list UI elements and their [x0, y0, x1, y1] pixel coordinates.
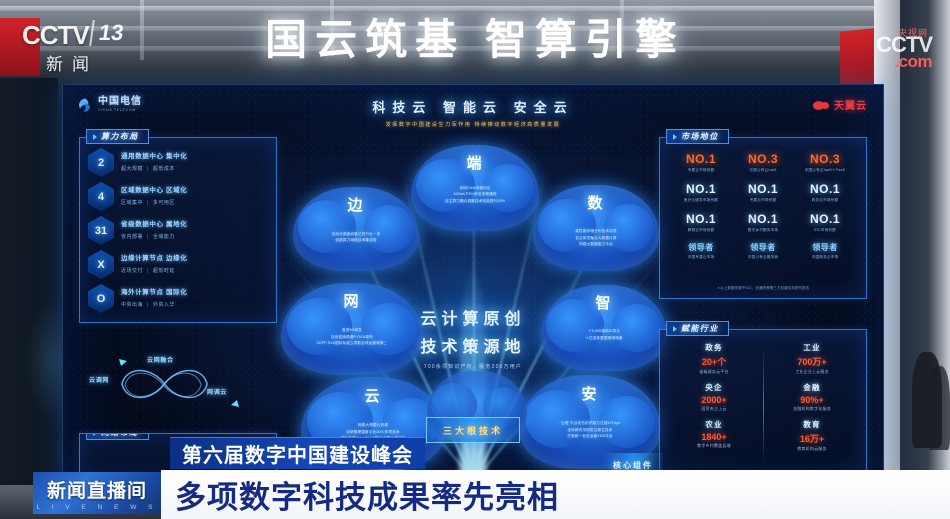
rank-badge: NO.3 [794, 152, 856, 166]
industry-name: 农业 [670, 419, 758, 430]
industry-enablement-panel: 赋能行业 政务 20+个 省级政务云平台 工业 700万+ 工业企业上云服务 央… [659, 329, 867, 477]
market-cell[interactable]: NO.1 教育云市场份额 [670, 212, 732, 233]
industry-value: 20+个 [670, 355, 758, 368]
program-name-en: L I V E N E W S [37, 504, 158, 511]
rank-badge: NO.1 [794, 182, 856, 196]
industry-cell[interactable]: 教育 16万+ 教育机构云服务 [768, 419, 856, 452]
core-line-2: 技术策源地 [368, 333, 578, 357]
cloud-node-desc: "云堤"平台攻击防护能力达到10Tbps 全序辨先河研发云原生技术 打造统一安全… [525, 420, 656, 440]
hex-number: O [97, 293, 106, 305]
tag-left: 近场交付 [121, 268, 143, 274]
industry-value: 16万+ [768, 432, 856, 445]
rank-desc: 中国公有云IaaS [732, 168, 794, 173]
market-cell[interactable]: NO.1 数字乡村服务市场 [732, 212, 794, 233]
cloud-node-label: 边 [293, 194, 419, 215]
industry-cell[interactable]: 央企 2000+ 国资央企上云 [670, 382, 758, 412]
chevron-right-icon [673, 326, 677, 332]
rank-desc: IDC市场份额 [794, 228, 856, 233]
three-root-technologies-badge[interactable]: 三大根技术 [426, 417, 520, 443]
row-title: 通用数据中心 集中化 [121, 150, 187, 160]
rank-desc: 专属云市场份额 [670, 168, 732, 173]
cloud-node-desc: 自研Clink传输协议 100ms下5%丢包流畅通用 自主算力融合调度技术效能提… [416, 185, 534, 205]
cloud-node-label: 云 [301, 385, 445, 406]
rank-badge: NO.1 [732, 212, 794, 226]
compute-row[interactable]: 2 通用数据中心 集中化 超大规模|超低成本 [88, 148, 270, 182]
tag-left: 区域集中 [121, 200, 143, 206]
industry-desc: 金融机构数字化服务 [768, 406, 856, 412]
channel-number: 13 [89, 20, 131, 46]
program-badge: 新闻直播间 L I V E N E W S [33, 472, 161, 514]
industry-cell[interactable]: 农业 1840+ 数字乡村覆盖县域 [670, 419, 758, 452]
cloud-tree-core-label: 云计算原创 技术策源地 700余项知识产权，服务200万用户 [368, 305, 578, 370]
industry-cell[interactable]: 政务 20+个 省级政务云平台 [670, 342, 758, 375]
cloud-network-fusion-diagram: 云网融合 云调网 网调云 [89, 347, 269, 421]
left-wall [0, 78, 58, 519]
industry-name: 金融 [768, 382, 856, 393]
compute-row[interactable]: X 边缘计算节点 边缘化 近场交付|超低时延 [88, 250, 270, 284]
compute-row[interactable]: 4 区域数据中心 区域化 区域集中|多可用区 [88, 182, 270, 216]
hex-number: 2 [98, 157, 104, 169]
industry-name: 政务 [670, 342, 758, 353]
row-tags: 区域集中|多可用区 [121, 199, 187, 206]
market-cell[interactable]: NO.1 专属云市场份额 [670, 152, 732, 173]
industry-desc: 省级政务云平台 [670, 369, 758, 375]
industry-name: 央企 [670, 382, 758, 393]
market-position-panel: 市场地位 NO.1 专属云市场份额 NO.3 中国公有云IaaS NO.3 中国… [659, 137, 867, 299]
market-cell[interactable]: NO.1 政务云市场份额 [794, 182, 856, 203]
rank-badge: 领导者 [670, 242, 732, 253]
channel-word: CCTV [22, 20, 89, 51]
badge-label: 三大根技术 [443, 426, 503, 436]
rank-desc: 中国政务云市场 [794, 255, 856, 260]
panel-title: 市场地位 [681, 131, 719, 142]
infinity-icon [89, 347, 269, 421]
industry-grid: 政务 20+个 省级政务云平台 工业 700万+ 工业企业上云服务 央企 200… [670, 342, 856, 452]
cloud-node-label: 数 [533, 192, 659, 213]
cloud-node-duan[interactable]: 端 自研Clink传输协议 100ms下5%丢包流畅通用 自主算力融合调度技术效… [411, 145, 539, 231]
row-tags: 省内部署|全域能力 [121, 233, 187, 240]
rank-badge: NO.1 [732, 182, 794, 196]
cloud-node-desc: 自动化调度纳管达到行业一流 创新算力网络技术集成用 [298, 231, 414, 244]
rank-desc: 中国专属云市场 [670, 255, 732, 260]
market-cell[interactable]: NO.1 IDC市场份额 [794, 212, 856, 233]
industry-desc: 国资央企上云 [670, 406, 758, 412]
row-title: 边缘计算节点 边缘化 [121, 252, 187, 262]
industry-value: 90%+ [768, 395, 856, 405]
rank-badge: NO.1 [670, 182, 732, 196]
market-cell[interactable]: 领导者 中国公有云服务商 [732, 242, 794, 260]
cloud-node-label: 安 [519, 383, 661, 404]
industry-name: 教育 [768, 419, 856, 430]
chevron-right-icon [673, 134, 677, 140]
industry-desc: 数字乡村覆盖县域 [670, 443, 758, 449]
topic-text: 第六届数字中国建设峰会 [182, 439, 413, 468]
core-line-1: 云计算原创 [368, 305, 578, 329]
rank-desc: 专属云市场份额 [732, 198, 794, 203]
led-exhibition-board: 中国电信 CHINA TELECOM 天翼云 科技云 智能云 安全云 发挥数字中… [62, 84, 884, 482]
rank-badge: NO.1 [670, 152, 732, 166]
tag-right: 外资入华 [153, 302, 175, 308]
market-cell[interactable]: 领导者 中国专属云市场 [670, 242, 732, 260]
rank-desc: 数字乡村服务市场 [732, 228, 794, 233]
industry-cell[interactable]: 金融 90%+ 金融机构数字化服务 [768, 382, 856, 412]
cctv-com-watermark: 央视网 CCTV .com [876, 32, 932, 72]
rank-badge: NO.3 [732, 152, 794, 166]
chevron-right-icon [93, 134, 97, 140]
row-title: 省级数据中心 属地化 [121, 218, 187, 228]
cloud-node-shu[interactable]: 数 高性能存储分布技术实现 自主研发聚合大数据计算 构建大数据能力平台 [533, 185, 659, 271]
industry-value: 1840+ [670, 432, 758, 442]
chevron-right-icon [93, 433, 97, 436]
fusion-left-label: 云调网 [89, 375, 109, 384]
compute-layout-panel: 算力布局 2 通用数据中心 集中化 超大规模|超低成本 4 区域数据中心 区 [79, 137, 277, 323]
cloud-node-desc: 高性能存储分布技术实现 自主研发聚合大数据计算 构建大数据能力平台 [538, 228, 654, 248]
rank-badge: NO.1 [794, 212, 856, 226]
rank-badge: NO.1 [670, 212, 732, 226]
industry-name: 工业 [768, 342, 856, 353]
topic-banner: 第六届数字中国建设峰会 [170, 437, 425, 469]
panel-header: 算力布局 [86, 129, 149, 144]
market-grid: NO.1 专属云市场份额 NO.3 中国公有云IaaS NO.3 中国公有云Ia… [670, 152, 856, 260]
rank-desc: 中国公有云服务商 [732, 255, 794, 260]
market-cell[interactable]: 领导者 中国政务云市场 [794, 242, 856, 260]
panel-header: 网络布局 [86, 433, 149, 440]
core-subtext: 700余项知识产权，服务200万用户 [368, 363, 578, 370]
panel-title: 赋能行业 [681, 323, 719, 334]
headline-bar: 多项数字科技成果率先亮相 [161, 470, 950, 519]
row-tags: 超大规模|超低成本 [121, 165, 187, 172]
compute-layout-rows: 2 通用数据中心 集中化 超大规模|超低成本 4 区域数据中心 区域化 区域集中… [88, 148, 270, 318]
fusion-right-label: 网调云 [207, 387, 227, 396]
rank-desc: 中国公有云IaaS＋PaaS [794, 168, 856, 173]
tag-left: 超大规模 [121, 166, 143, 172]
industry-value: 700万+ [768, 355, 856, 368]
board-title: 科技云 智能云 安全云 [63, 97, 883, 116]
tag-left: 中资出海 [121, 302, 143, 308]
industry-desc: 工业企业上云服务 [768, 369, 856, 375]
panel-header: 赋能行业 [666, 321, 729, 336]
fusion-center-label: 云网融合 [147, 355, 174, 364]
channel-logo: CCTV 13 [22, 20, 129, 51]
market-cell[interactable]: NO.3 中国公有云IaaS＋PaaS [794, 152, 856, 173]
row-tags: 近场交付|超低时延 [121, 267, 187, 274]
cloud-node-label: 端 [411, 152, 539, 173]
compute-row[interactable]: 31 省级数据中心 属地化 省内部署|全域能力 [88, 216, 270, 250]
program-name-cn: 新闻直播间 [47, 476, 147, 503]
watermark-cn: 央视网 [898, 26, 928, 39]
rank-desc: 教育云市场份额 [670, 228, 732, 233]
compute-row[interactable]: O 海外计算节点 国际化 中资出海|外资入华 [88, 284, 270, 318]
row-title: 海外计算节点 国际化 [121, 286, 187, 296]
channel-name: 新闻 [46, 50, 98, 75]
panel-title: 算力布局 [101, 131, 139, 142]
rank-badge: 领导者 [732, 242, 794, 253]
hall-banner-text: 国云筑基 智算引擎 [150, 6, 800, 67]
hex-number: 4 [98, 191, 104, 203]
panel-title: 网络布局 [101, 433, 139, 438]
row-tags: 中资出海|外资入华 [121, 301, 187, 308]
rank-badge: 领导者 [794, 242, 856, 253]
broadcast-screenshot: 国云筑基 智算引擎 中国电信 CHINA TELECOM 天翼云 科技云 智能云… [0, 0, 950, 519]
rank-desc: 政务云市场份额 [794, 198, 856, 203]
industry-value: 2000+ [670, 395, 758, 405]
market-cell[interactable]: NO.1 医疗云服务市场份额 [670, 182, 732, 203]
industry-cell[interactable]: 工业 700万+ 工业企业上云服务 [768, 342, 856, 375]
tag-right: 超低成本 [153, 166, 175, 172]
row-title: 区域数据中心 区域化 [121, 184, 187, 194]
tag-left: 省内部署 [121, 234, 143, 240]
market-cell[interactable]: NO.1 专属云市场份额 [732, 182, 794, 203]
board-title-block: 科技云 智能云 安全云 发挥数字中国建设生力军作用 持续推动数字经济高质量发展 [63, 97, 883, 128]
market-cell[interactable]: NO.3 中国公有云IaaS [732, 152, 794, 173]
hex-number: 31 [95, 225, 107, 237]
panel-header: 市场地位 [666, 129, 729, 144]
badge-label: 核心组件 [613, 461, 653, 470]
market-footnote: ＊以上数据来源于IDC、信通院等第三方权威机构研究报告 [660, 285, 866, 290]
tag-right: 全域能力 [153, 234, 175, 240]
rank-desc: 医疗云服务市场份额 [670, 198, 732, 203]
tag-right: 多可用区 [153, 200, 175, 206]
hex-number: X [97, 259, 104, 271]
tag-right: 超低时延 [153, 268, 175, 274]
cloud-node-bian[interactable]: 边 自动化调度纳管达到行业一流 创新算力网络技术集成用 [293, 187, 419, 271]
headline-text: 多项数字科技成果率先亮相 [175, 472, 559, 517]
visitor-silhouette-2 [928, 366, 950, 450]
industry-desc: 教育机构云服务 [768, 446, 856, 452]
